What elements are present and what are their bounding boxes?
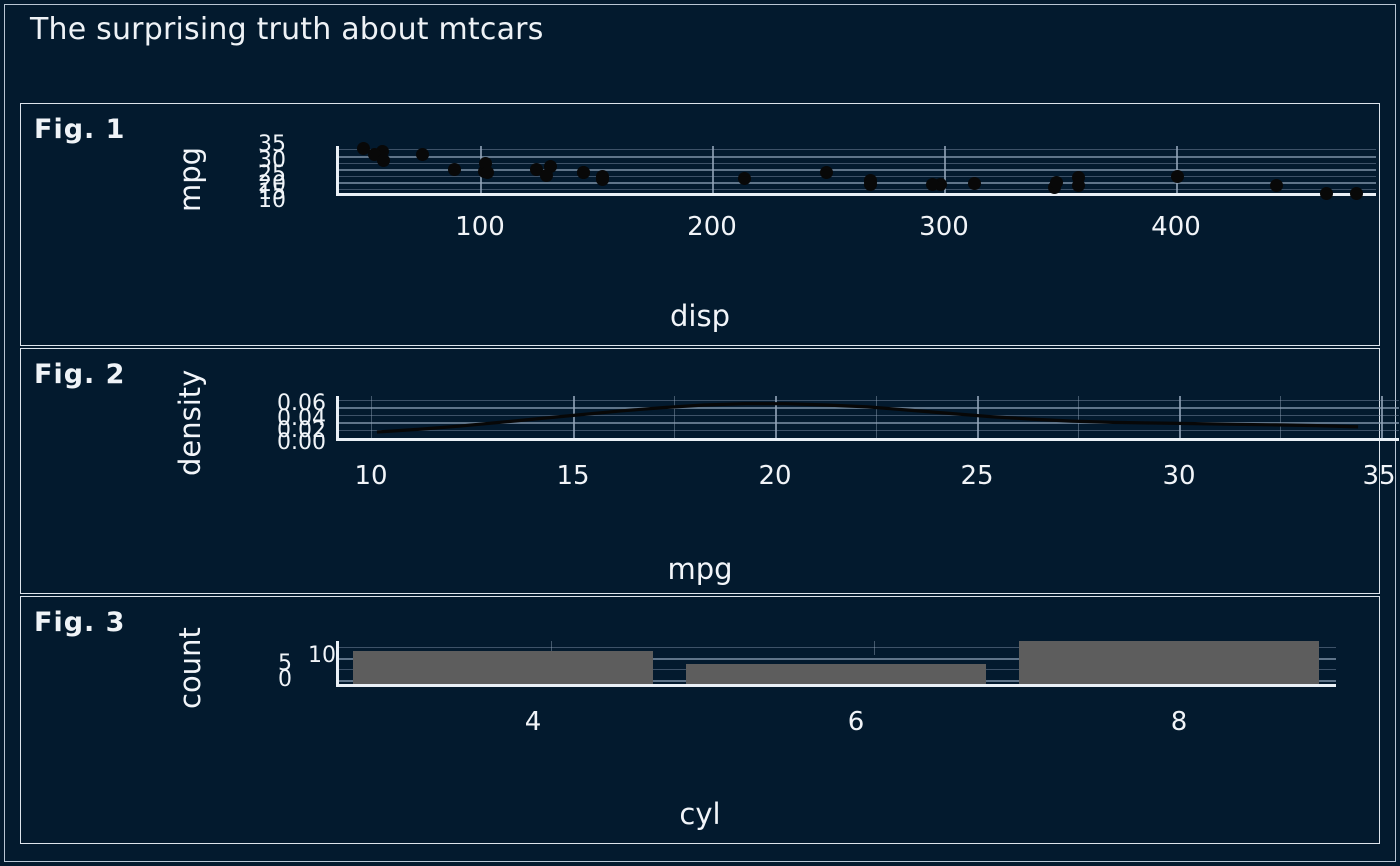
figure-2-y-axis-title: density [173,370,207,476]
page-title: The surprising truth about mtcars [30,12,544,47]
x-tick: 4 [525,707,542,737]
scatter-point [481,166,494,179]
x-tick: 8 [1171,707,1188,737]
figure-panel-2: Fig. 2 density 0.06 0.04 0.02 0.00 [20,348,1380,594]
figure-page: The surprising truth about mtcars Fig. 1… [0,0,1400,866]
x-tick: 35 [1362,461,1395,491]
scatter-point [1072,179,1085,192]
scatter-point [1320,187,1333,200]
figure-3-tag: Fig. 3 [34,607,125,638]
x-tick: 15 [556,461,589,491]
figure-1-x-axis-title: disp [21,299,1379,333]
scatter-point [540,169,553,182]
x-tick: 6 [848,707,865,737]
y-tick: 0.00 [277,432,326,454]
figure-2-tag: Fig. 2 [34,359,125,390]
y-tick: 0 [278,669,292,691]
scatter-point [577,166,590,179]
density-curve [336,396,1399,441]
figure-2-plot-area [336,396,1399,441]
x-tick: 100 [455,212,505,242]
x-tick: 30 [1162,461,1195,491]
figure-panel-1: Fig. 1 mpg 35 30 25 20 15 10 [20,103,1380,346]
figure-1-y-axis-title: mpg [173,147,207,212]
scatter-point [357,142,370,155]
scatter-point [596,173,609,186]
scatter-point [738,172,751,185]
figure-3-x-axis-title: cyl [21,797,1379,831]
figure-2-x-axis-title: mpg [21,552,1379,586]
figure-1-tag: Fig. 1 [34,114,125,145]
scatter-point [448,163,461,176]
x-tick: 300 [919,212,969,242]
x-tick: 25 [960,461,993,491]
scatter-point [1171,170,1184,183]
figure-panel-3: Fig. 3 count 10 5 0 4 6 8 cyl [20,596,1380,844]
scatter-point [1350,187,1363,200]
x-tick: 10 [354,461,387,491]
scatter-point [1050,176,1063,189]
figure-3-y-axis-title: count [173,627,207,709]
y-tick: 10 [258,190,286,212]
scatter-point [377,154,390,167]
x-tick: 200 [687,212,737,242]
x-tick: 400 [1151,212,1201,242]
bar [1019,641,1319,687]
scatter-point [1270,179,1283,192]
bar [353,651,653,687]
scatter-point [416,148,429,161]
scatter-point [820,166,833,179]
scatter-point [864,178,877,191]
x-tick: 20 [758,461,791,491]
figure-1-plot-area [336,146,1376,196]
y-tick: 10 [308,645,336,667]
figure-3-plot-area [336,641,1336,687]
